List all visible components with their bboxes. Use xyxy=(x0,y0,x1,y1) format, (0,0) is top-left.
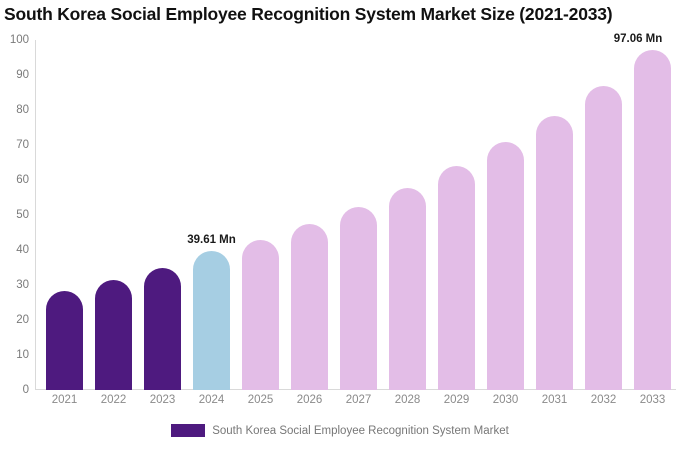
x-axis-tick-label: 2022 xyxy=(95,394,132,406)
bar-2029[interactable] xyxy=(438,166,475,390)
x-axis-tick-label: 2031 xyxy=(536,394,573,406)
bar-2032[interactable] xyxy=(585,86,622,391)
value-label-2024: 39.61 Mn xyxy=(172,234,252,246)
y-axis-tick-label: 10 xyxy=(0,349,29,361)
x-axis-tick-label: 2023 xyxy=(144,394,181,406)
bar-2030[interactable] xyxy=(487,142,524,391)
x-axis-tick-label: 2032 xyxy=(585,394,622,406)
x-axis-tick-label: 2027 xyxy=(340,394,377,406)
bar-2021[interactable] xyxy=(46,291,83,390)
y-axis-tick-label: 40 xyxy=(0,244,29,256)
x-axis-tick-label: 2030 xyxy=(487,394,524,406)
y-axis-tick-label: 80 xyxy=(0,104,29,116)
bar-2023[interactable] xyxy=(144,268,181,391)
x-axis-tick-label: 2028 xyxy=(389,394,426,406)
bar-2022[interactable] xyxy=(95,280,132,390)
chart-title: South Korea Social Employee Recognition … xyxy=(4,4,612,25)
y-axis-tick-label: 100 xyxy=(0,34,29,46)
legend-label[interactable]: South Korea Social Employee Recognition … xyxy=(212,425,509,437)
bar-2033[interactable] xyxy=(634,50,671,390)
x-axis-labels: 2021202220232024202520262027202820292030… xyxy=(35,394,676,412)
y-axis-tick-label: 20 xyxy=(0,314,29,326)
y-axis-tick-label: 60 xyxy=(0,174,29,186)
y-axis-tick-label: 50 xyxy=(0,209,29,221)
y-axis-tick-label: 30 xyxy=(0,279,29,291)
y-axis-tick-label: 90 xyxy=(0,69,29,81)
bar-2024[interactable] xyxy=(193,251,230,390)
chart-container: South Korea Social Employee Recognition … xyxy=(0,0,680,450)
x-axis-tick-label: 2026 xyxy=(291,394,328,406)
bar-2027[interactable] xyxy=(340,207,377,390)
x-axis-tick-label: 2029 xyxy=(438,394,475,406)
bar-2031[interactable] xyxy=(536,116,573,390)
bar-2026[interactable] xyxy=(291,224,328,390)
x-axis-tick-label: 2033 xyxy=(634,394,671,406)
x-axis-tick-label: 2021 xyxy=(46,394,83,406)
chart-legend: South Korea Social Employee Recognition … xyxy=(0,424,680,437)
y-axis-labels: 0102030405060708090100 xyxy=(0,40,29,390)
bar-2028[interactable] xyxy=(389,188,426,390)
y-axis-tick-label: 70 xyxy=(0,139,29,151)
legend-swatch xyxy=(171,424,205,437)
x-axis-tick-label: 2024 xyxy=(193,394,230,406)
y-axis-tick-label: 0 xyxy=(0,384,29,396)
bars-layer xyxy=(35,40,676,390)
bar-2025[interactable] xyxy=(242,240,279,391)
x-axis-tick-label: 2025 xyxy=(242,394,279,406)
plot-area xyxy=(35,40,676,390)
value-label-2033: 97.06 Mn xyxy=(598,33,678,45)
